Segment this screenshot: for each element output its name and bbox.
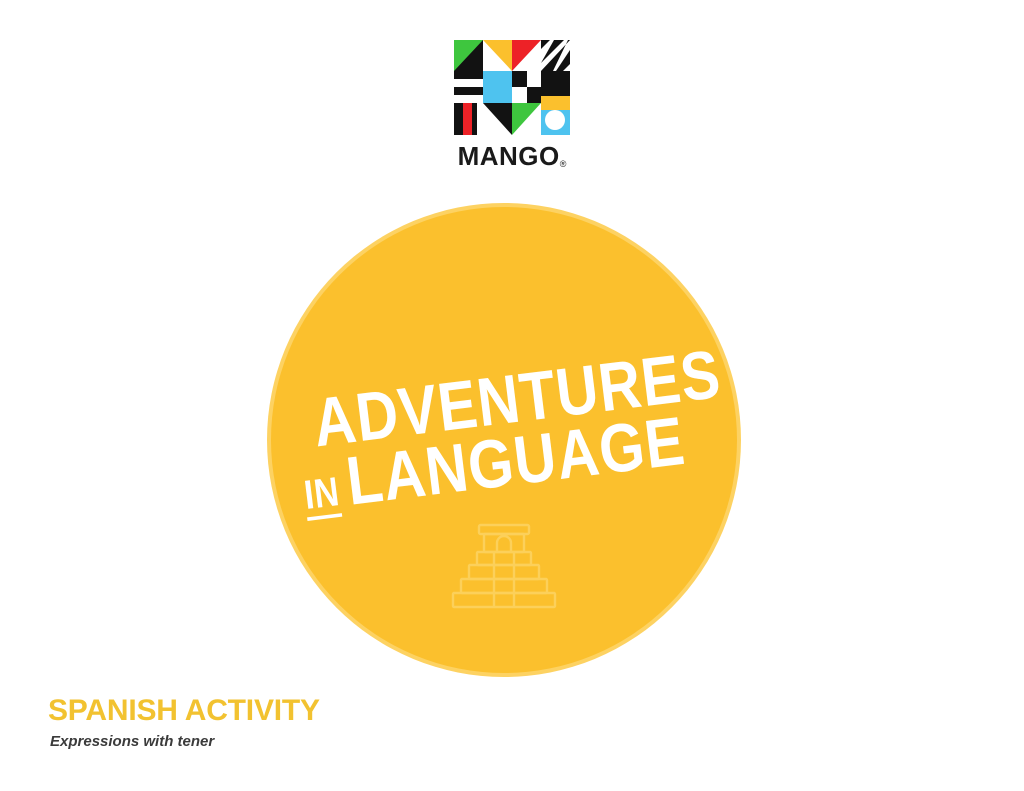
activity-footer: SPANISH ACTIVITY Expressions with tener	[48, 694, 320, 751]
mayan-pyramid-svg	[449, 519, 559, 614]
mango-brand-logo: MANGO®	[454, 40, 570, 169]
activity-subtitle: Expressions with tener	[50, 733, 320, 751]
registered-trademark-icon: ®	[560, 159, 567, 169]
badge-title: ADVENTURES INLANGUAGE	[294, 358, 705, 520]
mango-wordmark-text: MANGO	[458, 141, 560, 171]
mango-wordmark: MANGO®	[454, 143, 570, 169]
mayan-pyramid-icon	[449, 519, 559, 614]
adventures-in-language-badge: ADVENTURES INLANGUAGE	[271, 207, 737, 673]
badge-inner: ADVENTURES INLANGUAGE	[271, 207, 737, 673]
mango-logo-svg	[454, 40, 570, 135]
badge-title-word-in: IN	[302, 471, 342, 521]
activity-title: SPANISH ACTIVITY	[48, 694, 320, 727]
mango-logo-mark	[454, 40, 570, 135]
